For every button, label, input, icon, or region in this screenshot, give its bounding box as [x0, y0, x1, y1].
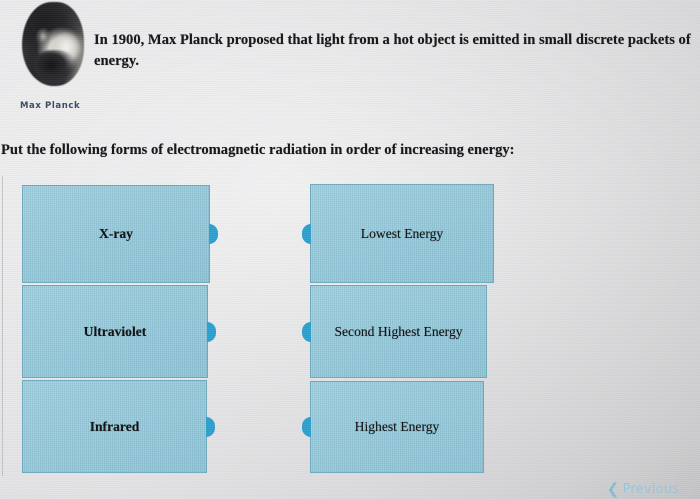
- connector-nub-icon[interactable]: [302, 322, 311, 342]
- match-left-item-x-ray[interactable]: X-ray: [22, 185, 210, 283]
- quiz-screen: Max Planck In 1900, Max Planck proposed …: [0, 0, 700, 499]
- prompt-text: In 1900, Max Planck proposed that light …: [94, 30, 692, 72]
- matching-board: X-ray Ultraviolet Infrared Lowest Energy…: [0, 0, 700, 499]
- connector-nub-icon[interactable]: [209, 224, 218, 244]
- max-planck-figure: Max Planck: [14, 0, 96, 98]
- match-right-item-lowest-energy[interactable]: Lowest Energy: [310, 184, 494, 283]
- previous-button[interactable]: ❮ Previous: [607, 482, 679, 497]
- connector-nub-icon[interactable]: [207, 322, 216, 342]
- match-right-label: Highest Energy: [355, 419, 440, 435]
- connector-nub-icon[interactable]: [206, 417, 215, 437]
- match-right-label: Lowest Energy: [361, 226, 443, 242]
- match-left-item-infrared[interactable]: Infrared: [22, 380, 207, 473]
- match-right-label: Second Highest Energy: [334, 324, 462, 340]
- match-left-item-ultraviolet[interactable]: Ultraviolet: [22, 285, 208, 378]
- chevron-left-icon: ❮: [607, 482, 620, 497]
- previous-button-label: Previous: [623, 482, 680, 497]
- match-left-label: Infrared: [90, 419, 140, 435]
- connector-nub-icon[interactable]: [302, 417, 311, 437]
- instruction-text: Put the following forms of electromagnet…: [1, 140, 691, 160]
- portrait-caption: Max Planck: [20, 101, 80, 111]
- connector-nub-icon[interactable]: [302, 224, 311, 244]
- match-left-label: X-ray: [99, 226, 133, 242]
- match-right-item-highest-energy[interactable]: Highest Energy: [310, 381, 484, 473]
- max-planck-portrait-icon: [14, 0, 96, 94]
- match-right-item-second-highest-energy[interactable]: Second Highest Energy: [310, 285, 487, 378]
- footer-navigation: ❮ Previous N: [607, 482, 700, 497]
- match-left-label: Ultraviolet: [84, 324, 147, 340]
